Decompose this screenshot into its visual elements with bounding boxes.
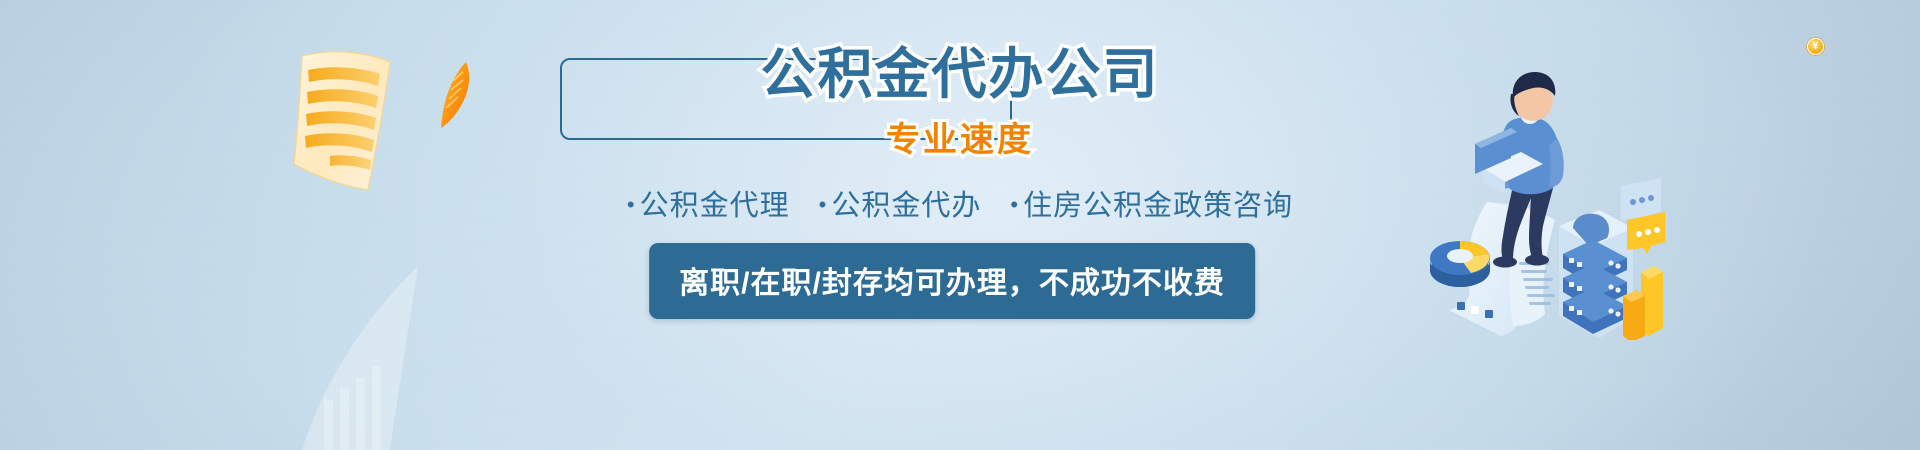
bullet-dot-icon: • [627, 192, 636, 217]
subtitle-row: 专业速度 [0, 112, 1920, 161]
promo-banner: 公积金代办公司 专业速度 •公积金代理 •公积金代办 •住房公积金政策咨询 离职… [0, 0, 1920, 450]
list-item: •住房公积金政策咨询 [1010, 182, 1293, 224]
cta-button[interactable]: 离职/在职/封存均可办理，不成功不收费 [649, 243, 1255, 319]
bullet-dot-icon: • [1010, 192, 1019, 217]
list-item: •公积金代办 [819, 182, 982, 224]
list-item-label: 公积金代办 [831, 190, 981, 222]
bullet-dot-icon: • [819, 192, 828, 217]
list-item-label: 公积金代理 [640, 190, 790, 222]
page-subtitle: 专业速度 [872, 112, 1048, 161]
banner-content: 公积金代办公司 专业速度 •公积金代理 •公积金代办 •住房公积金政策咨询 离职… [0, 0, 1920, 450]
coin-icon [1807, 38, 1824, 55]
list-item: •公积金代理 [627, 182, 790, 224]
feature-bullet-list: •公积金代理 •公积金代办 •住房公积金政策咨询 [0, 182, 1920, 224]
list-item-label: 住房公积金政策咨询 [1023, 190, 1293, 222]
